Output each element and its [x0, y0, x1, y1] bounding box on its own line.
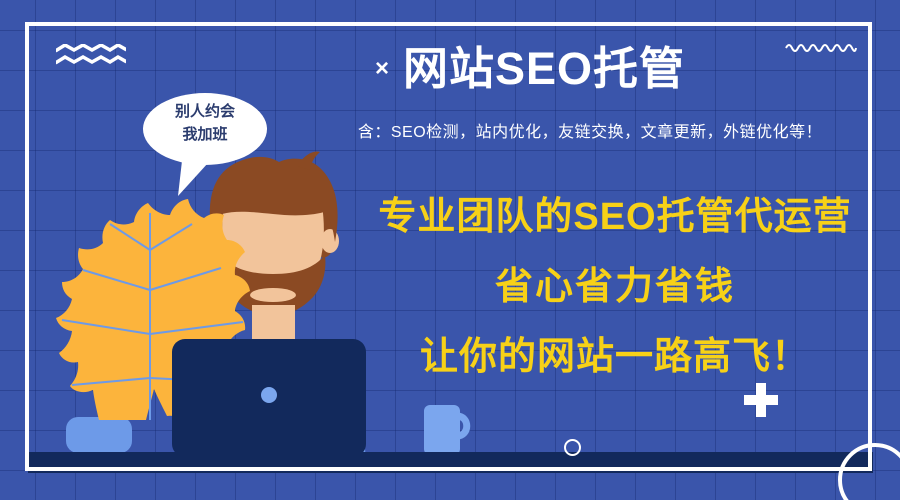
- laptop-logo-icon: [261, 387, 277, 403]
- mug-body-icon: [424, 405, 460, 455]
- wave-lines-icon: [56, 44, 126, 66]
- plant-veins-icon: [62, 213, 243, 420]
- face-icon: [222, 205, 324, 298]
- ear-left-icon: [207, 229, 225, 253]
- laptop-screen-icon: [172, 339, 366, 457]
- desk-icon: [28, 452, 873, 473]
- title-x-mark: ×: [375, 57, 389, 81]
- plant-leaf-icon: [56, 199, 250, 421]
- small-circle-outline-icon: [564, 439, 581, 456]
- hair-front-icon: [210, 157, 338, 242]
- hair-tuft-icon: [297, 152, 320, 170]
- mouth-icon: [250, 288, 296, 302]
- wave-line-icon: [785, 40, 857, 52]
- page-title: × 网站SEO托管: [330, 46, 730, 91]
- subtitle-text: 含：SEO检测，站内优化，友链交换，文章更新，外链优化等！: [295, 118, 885, 142]
- plus-icon: [744, 383, 778, 417]
- hair-back-icon: [210, 158, 336, 258]
- ear-right-icon: [321, 229, 339, 253]
- beard-icon: [221, 255, 326, 315]
- shirt-icon: [180, 343, 366, 470]
- slogan-line-2: 省心省力省钱: [370, 268, 860, 306]
- speech-bubble-text: 别人约会 我加班: [143, 100, 267, 147]
- mug-handle-icon: [457, 416, 467, 436]
- circle-outline-icon: [838, 443, 900, 500]
- title-text: 网站SEO托管: [403, 46, 685, 91]
- slogan-line-1: 专业团队的SEO托管代运营: [370, 198, 860, 236]
- neck-icon: [252, 305, 295, 347]
- slogan-line-3: 让你的网站一路高飞！: [370, 338, 860, 376]
- seo-hosting-banner: × 网站SEO托管 含：SEO检测，站内优化，友链交换，文章更新，外链优化等！ …: [0, 0, 900, 500]
- plant-pot-icon: [66, 417, 132, 453]
